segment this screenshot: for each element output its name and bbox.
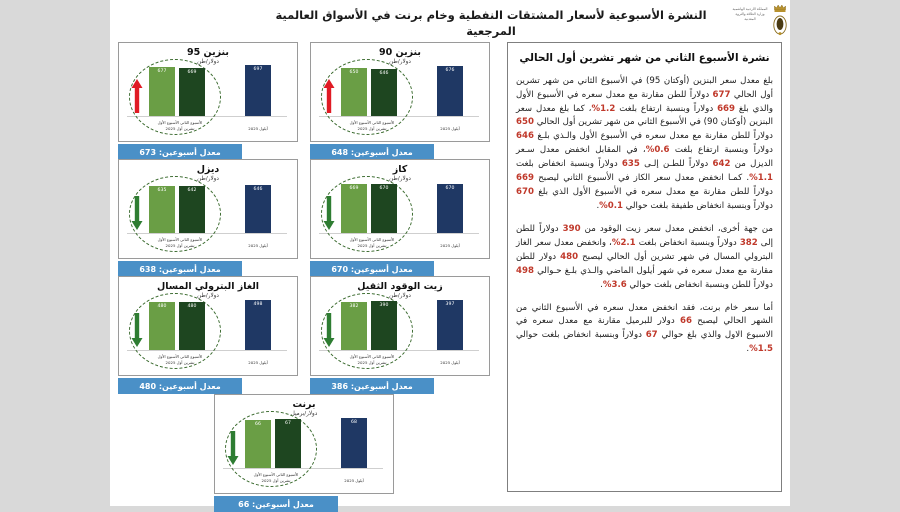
plot-lpg: 498 480 480 أيلول 2025 الأسبوع الثاني ال… bbox=[123, 299, 293, 371]
plot-brent: 68 67 66 أيلول 2025 الأسبوع الثاني الأسب… bbox=[219, 417, 389, 489]
x-label-prev-month: أيلول 2025 bbox=[426, 360, 474, 365]
document-page: النشرة الأسبوعية لأسعار المشتقات النفطية… bbox=[110, 0, 790, 506]
ministry-emblem: المملكة الأردنية الهاشمية وزارة الطاقة و… bbox=[728, 1, 790, 39]
bar-week2: 66 bbox=[245, 420, 271, 468]
page-title: النشرة الأسبوعية لأسعار المشتقات النفطية… bbox=[256, 8, 726, 39]
plot-benz90: 676 646 650 أيلول 2025 الأسبوع الثاني ال… bbox=[315, 65, 485, 137]
bar-week1: 390 bbox=[371, 301, 397, 350]
average-badge-lpg: معدل أسبوعين: 480 bbox=[118, 378, 242, 394]
chart-card-kaz: كاز دولار/طن 670 670 669 أيلول 2025 bbox=[310, 159, 490, 259]
average-badge-brent: معدل أسبوعين: 66 bbox=[214, 496, 338, 512]
chart-card-benz95: بنزين 95 دولار/طن 697 669 677 أيلول 2025 bbox=[118, 42, 298, 142]
chart-card-brent: برنت دولار/برميل 68 67 66 أيلول 2025 bbox=[214, 394, 394, 494]
x-label-weeks: الأسبوع الثاني الأسبوع الأولتشرين أول 20… bbox=[149, 354, 211, 365]
bar-prev-month: 670 bbox=[437, 184, 463, 234]
average-badge-benz90: معدل أسبوعين: 648 bbox=[310, 144, 434, 160]
x-label-weeks: الأسبوع الثاني الأسبوع الأولتشرين أول 20… bbox=[341, 120, 403, 131]
chart-card-lpg: الغاز البترولي المسال دولار/طن 498 480 4… bbox=[118, 276, 298, 376]
analysis-paragraph-3: أما سعر خام برنت، فقد انخفض معدل سعره في… bbox=[516, 302, 773, 358]
page-header: النشرة الأسبوعية لأسعار المشتقات النفطية… bbox=[110, 0, 790, 40]
x-label-prev-month: أيلول 2025 bbox=[426, 126, 474, 131]
bar-week2: 635 bbox=[149, 186, 175, 233]
bar-prev-month: 676 bbox=[437, 66, 463, 116]
bar-week1: 480 bbox=[179, 302, 205, 350]
chart-title-kaz: كاز bbox=[311, 164, 489, 175]
chart-title-benz90: بنزين 90 bbox=[311, 47, 489, 58]
average-badge-diesel: معدل أسبوعين: 638 bbox=[118, 261, 242, 277]
bar-week1: 67 bbox=[275, 419, 301, 468]
chart-title-fuel-oil: زيت الوقود الثقيل bbox=[311, 281, 489, 292]
bar-week1: 670 bbox=[371, 184, 397, 234]
x-label-prev-month: أيلول 2025 bbox=[234, 243, 282, 248]
x-label-prev-month: أيلول 2025 bbox=[330, 478, 378, 483]
bar-week2: 382 bbox=[341, 302, 367, 350]
bar-week1: 669 bbox=[179, 68, 205, 117]
chart-title-lpg: الغاز البترولي المسال bbox=[119, 281, 297, 292]
chart-title-diesel: ديزل bbox=[119, 164, 297, 175]
jordan-crown-icon bbox=[772, 3, 788, 37]
average-badge-fuel-oil: معدل أسبوعين: 386 bbox=[310, 378, 434, 394]
x-label-weeks: الأسبوع الثاني الأسبوع الأولتشرين أول 20… bbox=[245, 472, 307, 483]
emblem-caption: المملكة الأردنية الهاشمية وزارة الطاقة و… bbox=[730, 7, 770, 33]
plot-kaz: 670 670 669 أيلول 2025 الأسبوع الثاني ال… bbox=[315, 182, 485, 254]
x-label-weeks: الأسبوع الثاني الأسبوع الأولتشرين أول 20… bbox=[341, 237, 403, 248]
bar-prev-month: 68 bbox=[341, 418, 367, 468]
x-label-prev-month: أيلول 2025 bbox=[234, 360, 282, 365]
bar-prev-month: 397 bbox=[437, 300, 463, 350]
analysis-paragraph-2: من جهة أخرى، انخفض معدل سعر زيت الوقود م… bbox=[516, 223, 773, 293]
bar-week2: 650 bbox=[341, 68, 367, 116]
chart-title-benz95: بنزين 95 bbox=[119, 47, 297, 58]
x-label-prev-month: أيلول 2025 bbox=[234, 126, 282, 131]
bar-prev-month: 498 bbox=[245, 300, 271, 350]
chart-card-diesel: ديزل دولار/طن 646 642 635 أيلول 2025 bbox=[118, 159, 298, 259]
bar-week2: 669 bbox=[341, 184, 367, 233]
bar-week2: 480 bbox=[149, 302, 175, 350]
analysis-panel: نشرة الأسبوع الثاني من شهر تشرين أول الح… bbox=[507, 42, 782, 492]
chart-card-benz90: بنزين 90 دولار/طن 676 646 650 أيلول 2025 bbox=[310, 42, 490, 142]
bar-prev-month: 646 bbox=[245, 185, 271, 233]
average-badge-kaz: معدل أسبوعين: 670 bbox=[310, 261, 434, 277]
chart-title-brent: برنت bbox=[215, 399, 393, 410]
chart-card-fuel-oil: زيت الوقود الثقيل دولار/طن 397 390 382 أ… bbox=[310, 276, 490, 376]
x-label-weeks: الأسبوع الثاني الأسبوع الأولتشرين أول 20… bbox=[149, 237, 211, 248]
x-label-prev-month: أيلول 2025 bbox=[426, 243, 474, 248]
plot-benz95: 697 669 677 أيلول 2025 الأسبوع الثاني ال… bbox=[123, 65, 293, 137]
bar-prev-month: 697 bbox=[245, 65, 271, 116]
bar-week1: 642 bbox=[179, 186, 205, 234]
analysis-paragraph-1: بلغ معدل سعر البنزين (أوكتان 95) في الأس… bbox=[516, 75, 773, 214]
average-badge-benz95: معدل أسبوعين: 673 bbox=[118, 144, 242, 160]
analysis-heading: نشرة الأسبوع الثاني من شهر تشرين أول الح… bbox=[516, 51, 773, 66]
plot-fuel-oil: 397 390 382 أيلول 2025 الأسبوع الثاني ال… bbox=[315, 299, 485, 371]
charts-area: بنزين 90 دولار/طن 676 646 650 أيلول 2025 bbox=[118, 42, 490, 498]
bar-week1: 646 bbox=[371, 69, 397, 117]
plot-diesel: 646 642 635 أيلول 2025 الأسبوع الثاني ال… bbox=[123, 182, 293, 254]
bar-week2: 677 bbox=[149, 67, 175, 117]
x-label-weeks: الأسبوع الثاني الأسبوع الأولتشرين أول 20… bbox=[341, 354, 403, 365]
x-label-weeks: الأسبوع الثاني الأسبوع الأولتشرين أول 20… bbox=[149, 120, 211, 131]
